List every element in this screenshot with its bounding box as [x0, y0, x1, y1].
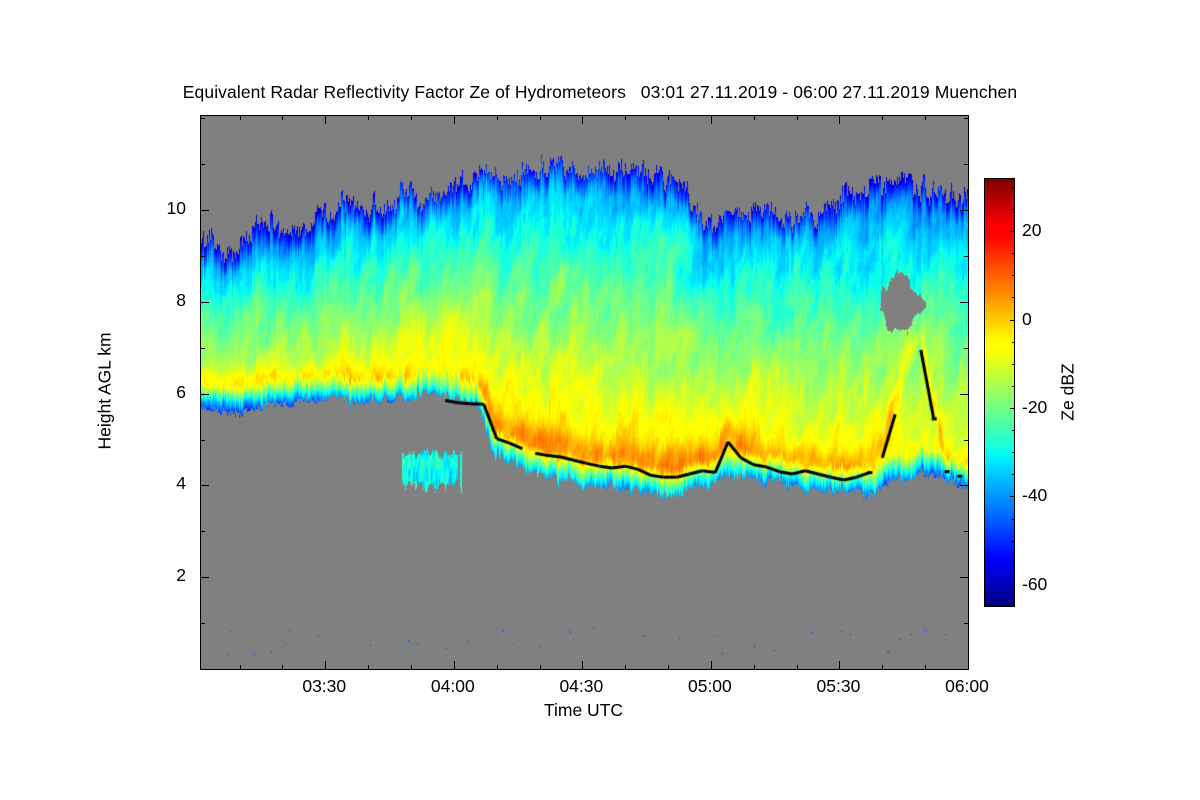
- x-tick-major: [582, 661, 583, 669]
- y-tick-label: 4: [0, 473, 186, 494]
- x-tick-minor: [368, 665, 369, 669]
- y-tick-label: 6: [0, 382, 186, 403]
- y-tick-major: [960, 485, 968, 486]
- colorbar-tick-minor: [1012, 342, 1015, 343]
- x-tick-major: [582, 116, 583, 124]
- colorbar-tick-label: -60: [1022, 574, 1047, 595]
- radar-reflectivity-heatmap[interactable]: [201, 116, 968, 669]
- x-tick-major: [325, 116, 326, 124]
- y-tick-minor: [201, 118, 205, 119]
- colorbar-tick-label: -40: [1022, 485, 1047, 506]
- x-tick-minor: [411, 665, 412, 669]
- y-tick-label: 2: [0, 565, 186, 586]
- y-tick-minor: [964, 118, 968, 119]
- x-tick-label: 04:00: [393, 676, 513, 697]
- x-tick-major: [968, 116, 969, 124]
- x-tick-label: 06:00: [907, 676, 1027, 697]
- colorbar-tick-minor: [1012, 430, 1015, 431]
- x-tick-major: [454, 661, 455, 669]
- colorbar-gradient: [984, 178, 1015, 607]
- y-tick-major: [201, 302, 209, 303]
- x-tick-minor: [368, 116, 369, 120]
- x-tick-minor: [282, 665, 283, 669]
- colorbar-tick-minor: [1012, 519, 1015, 520]
- colorbar-tick-minor: [1012, 541, 1015, 542]
- y-tick-major: [960, 210, 968, 211]
- x-tick-minor: [754, 665, 755, 669]
- colorbar-tick-minor: [1012, 209, 1015, 210]
- x-tick-label: 05:00: [650, 676, 770, 697]
- x-tick-major: [839, 116, 840, 124]
- colorbar-tick-major: [1010, 408, 1015, 409]
- x-tick-label: 04:30: [521, 676, 641, 697]
- x-tick-label: 03:30: [264, 676, 384, 697]
- x-tick-label: 05:30: [778, 676, 898, 697]
- colorbar-tick-label: -20: [1022, 397, 1047, 418]
- x-tick-minor: [797, 665, 798, 669]
- colorbar-tick-minor: [1012, 563, 1015, 564]
- colorbar-tick-major: [1010, 231, 1015, 232]
- x-tick-minor: [668, 116, 669, 120]
- y-tick-minor: [964, 348, 968, 349]
- y-tick-major: [201, 210, 209, 211]
- colorbar[interactable]: [984, 178, 1015, 607]
- colorbar-tick-major: [1010, 320, 1015, 321]
- x-tick-minor: [625, 116, 626, 120]
- y-tick-minor: [964, 531, 968, 532]
- y-tick-major: [960, 394, 968, 395]
- x-tick-minor: [540, 665, 541, 669]
- colorbar-tick-minor: [1012, 386, 1015, 387]
- y-tick-major: [201, 485, 209, 486]
- y-tick-minor: [964, 440, 968, 441]
- y-tick-major: [960, 302, 968, 303]
- x-tick-minor: [411, 116, 412, 120]
- x-tick-minor: [882, 116, 883, 120]
- radar-figure: Equivalent Radar Reflectivity Factor Ze …: [0, 0, 1200, 800]
- y-tick-minor: [201, 348, 205, 349]
- colorbar-tick-major: [1010, 585, 1015, 586]
- x-axis-label: Time UTC: [200, 700, 967, 721]
- x-tick-minor: [625, 665, 626, 669]
- y-tick-major: [201, 394, 209, 395]
- x-tick-minor: [540, 116, 541, 120]
- colorbar-tick-major: [1010, 496, 1015, 497]
- colorbar-tick-label: 0: [1022, 309, 1032, 330]
- x-tick-major: [839, 661, 840, 669]
- y-tick-label: 8: [0, 290, 186, 311]
- colorbar-tick-minor: [1012, 297, 1015, 298]
- x-tick-minor: [797, 116, 798, 120]
- x-tick-minor: [668, 665, 669, 669]
- y-tick-label: 10: [0, 198, 186, 219]
- y-tick-minor: [201, 256, 205, 257]
- colorbar-tick-minor: [1012, 253, 1015, 254]
- y-tick-minor: [201, 164, 205, 165]
- x-tick-major: [325, 661, 326, 669]
- x-tick-minor: [925, 116, 926, 120]
- x-tick-minor: [882, 665, 883, 669]
- x-tick-minor: [497, 116, 498, 120]
- colorbar-tick-minor: [1012, 275, 1015, 276]
- y-tick-minor: [201, 440, 205, 441]
- x-tick-minor: [925, 665, 926, 669]
- x-tick-major: [711, 661, 712, 669]
- y-tick-minor: [964, 164, 968, 165]
- y-tick-major: [960, 577, 968, 578]
- x-tick-minor: [497, 665, 498, 669]
- colorbar-tick-minor: [1012, 474, 1015, 475]
- colorbar-tick-minor: [1012, 187, 1015, 188]
- x-tick-minor: [240, 116, 241, 120]
- y-tick-minor: [201, 531, 205, 532]
- x-tick-major: [454, 116, 455, 124]
- colorbar-tick-minor: [1012, 364, 1015, 365]
- colorbar-tick-minor: [1012, 452, 1015, 453]
- x-tick-minor: [754, 116, 755, 120]
- colorbar-label: Ze dBZ: [1058, 363, 1079, 420]
- y-tick-major: [201, 577, 209, 578]
- x-tick-minor: [282, 116, 283, 120]
- x-tick-minor: [240, 665, 241, 669]
- y-axis-label: Height AGL km: [95, 332, 116, 449]
- x-tick-major: [711, 116, 712, 124]
- y-tick-minor: [201, 623, 205, 624]
- page-title: Equivalent Radar Reflectivity Factor Ze …: [0, 82, 1200, 103]
- y-tick-minor: [964, 623, 968, 624]
- y-tick-minor: [964, 256, 968, 257]
- x-tick-major: [968, 661, 969, 669]
- plot-area[interactable]: [200, 115, 969, 670]
- colorbar-tick-label: 20: [1022, 220, 1041, 241]
